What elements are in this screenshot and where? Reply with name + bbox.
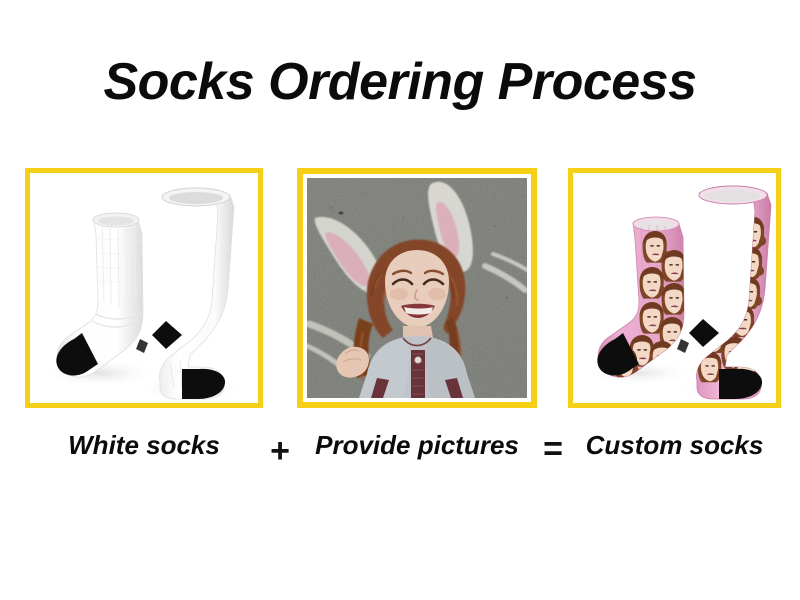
custom-sock-left	[597, 217, 689, 378]
step-panel-white-socks[interactable]	[25, 168, 263, 408]
operator-equals: =	[536, 432, 570, 466]
step-panel-provide-pictures[interactable]	[297, 168, 537, 408]
printed-faces-right	[698, 203, 766, 389]
white-socks-image	[30, 173, 258, 403]
heel-patch	[152, 321, 182, 349]
customer-photo-illustration	[307, 178, 527, 398]
heel-patch	[689, 319, 719, 347]
white-socks-illustration	[30, 173, 258, 403]
sock-right	[152, 188, 234, 399]
custom-sock-right	[689, 186, 771, 399]
caption-white-socks: White socks	[25, 430, 263, 461]
operator-plus: +	[263, 434, 297, 468]
caption-provide-pictures: Provide pictures	[297, 430, 537, 461]
process-row: +	[0, 168, 800, 408]
page-title: Socks Ordering Process	[0, 52, 800, 112]
customer-photo-image	[303, 174, 531, 402]
custom-socks-illustration	[573, 173, 776, 403]
step-panel-custom-socks[interactable]	[568, 168, 781, 408]
caption-custom-socks: Custom socks	[568, 430, 781, 461]
sock-left	[56, 213, 148, 377]
custom-socks-image	[573, 173, 776, 403]
